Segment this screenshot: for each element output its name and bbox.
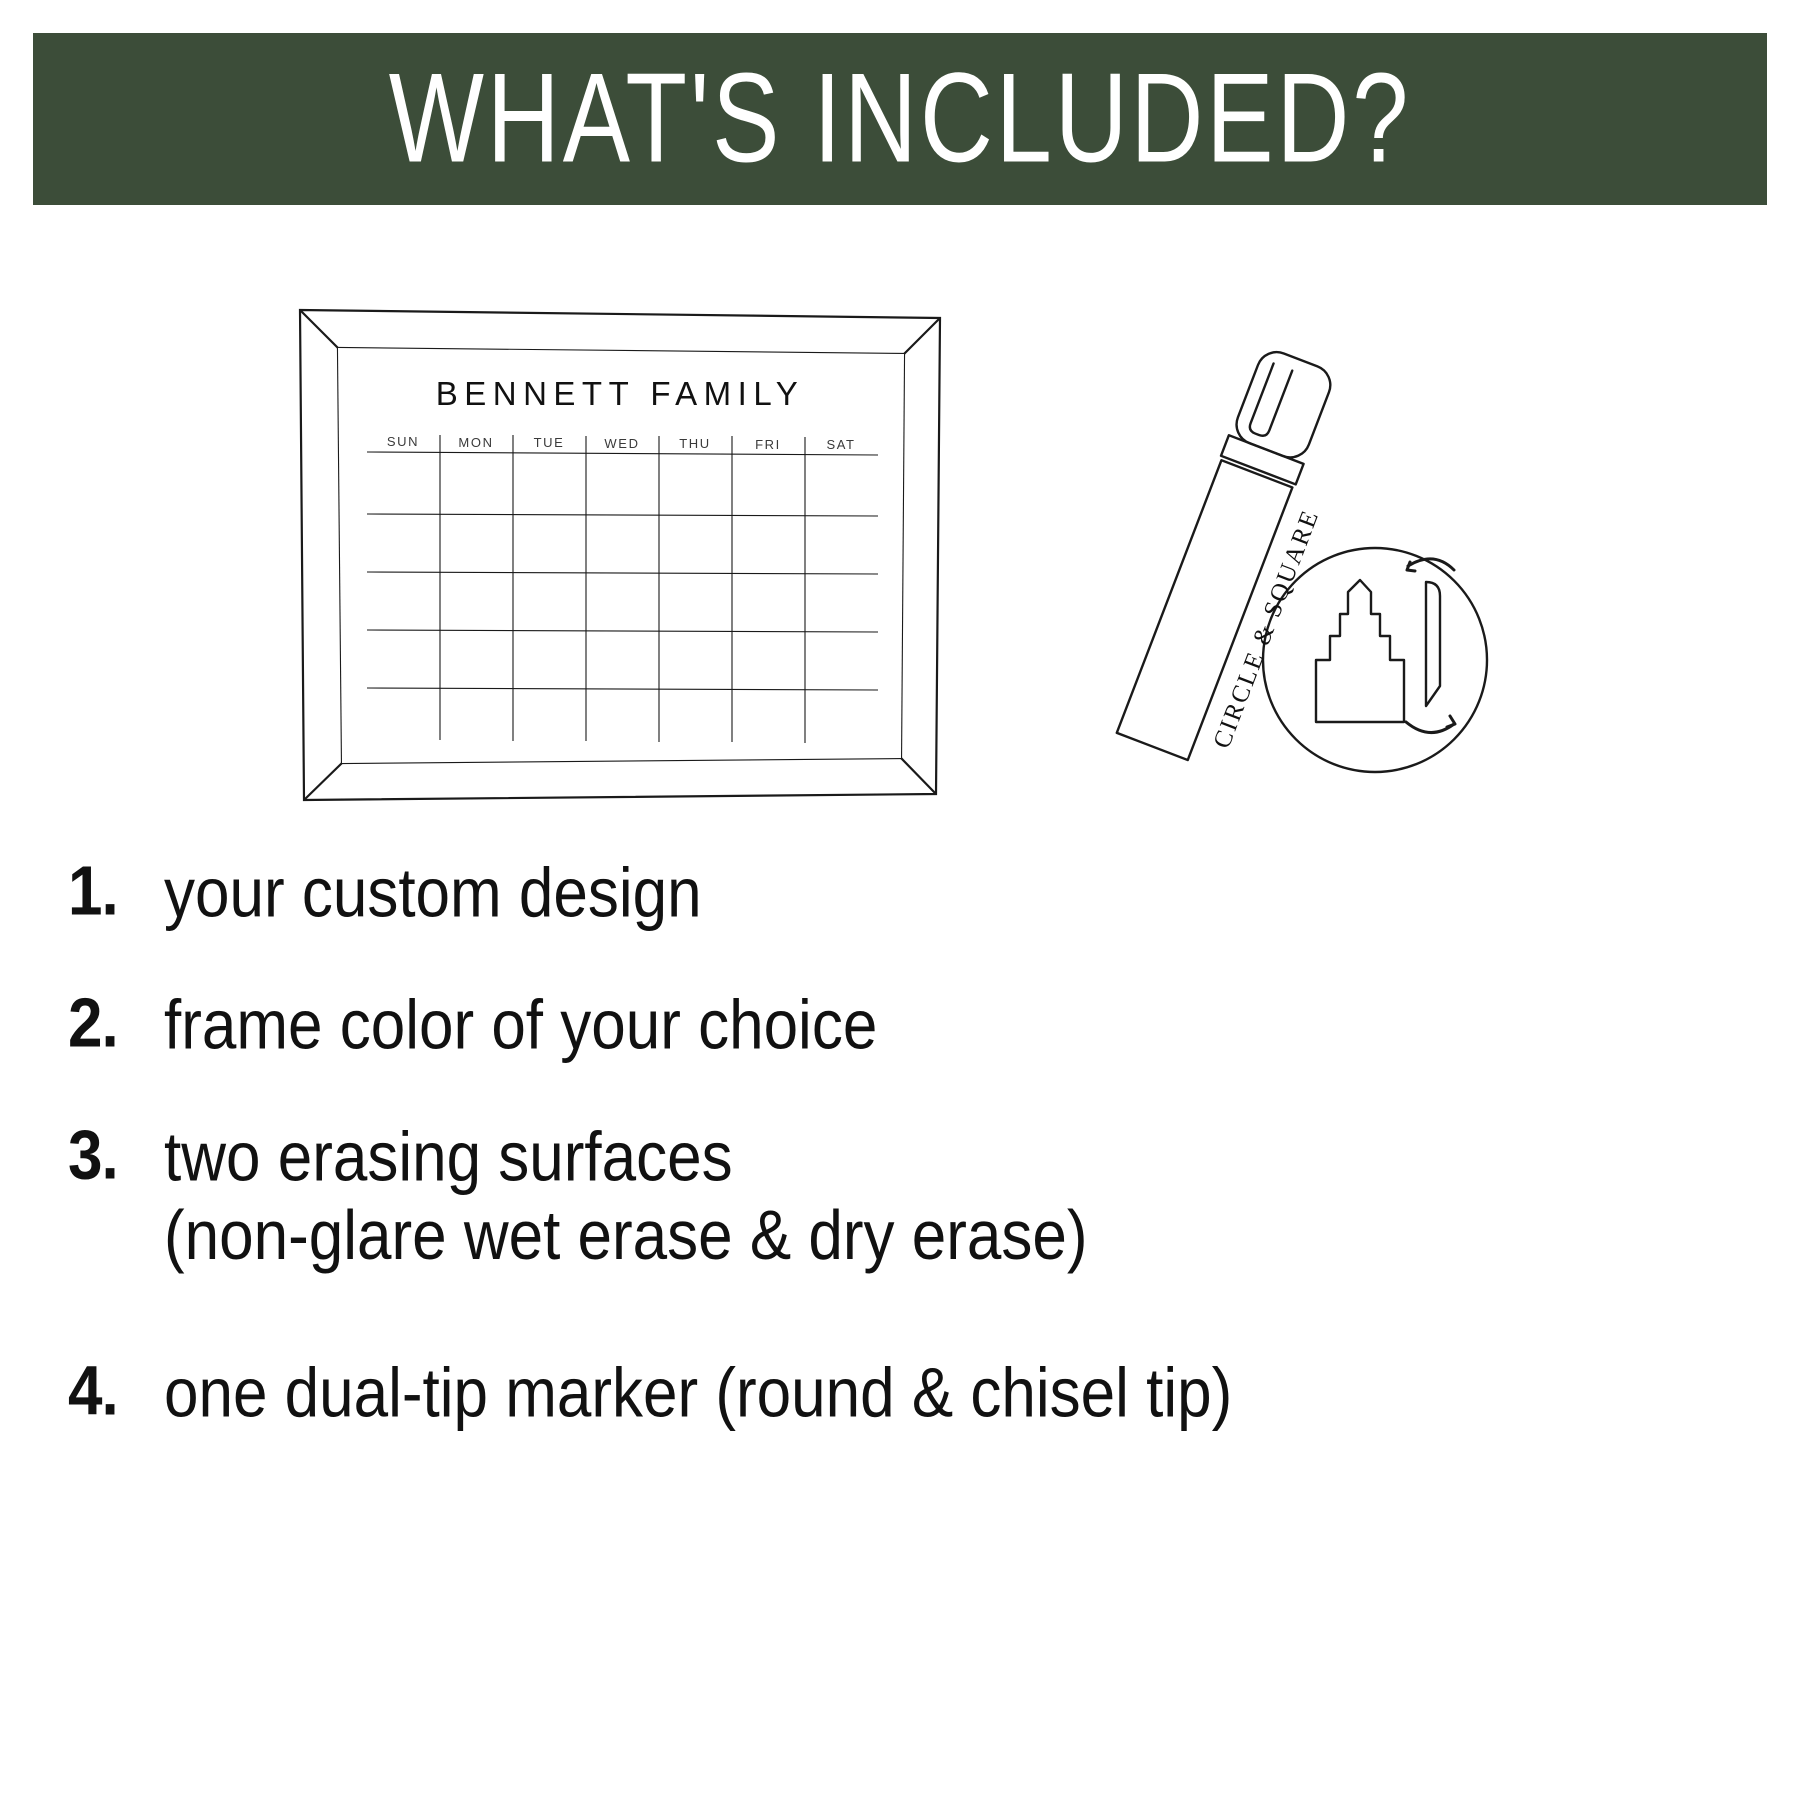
header-banner: WHAT'S INCLUDED? <box>33 33 1767 205</box>
list-item: 3. two erasing surfaces (non-glare wet e… <box>0 1119 1800 1259</box>
list-item-line-1: two erasing surfaces <box>164 1119 733 1196</box>
frame-mitre-top-right <box>904 318 940 354</box>
round-tip-icon <box>1316 580 1404 722</box>
list-item-number: 1. <box>68 855 164 928</box>
list-item-line-1: your custom design <box>164 855 702 932</box>
frame-mitre-bottom-left <box>304 763 342 800</box>
weekday-label-thu: THU <box>679 436 711 451</box>
board-title: BENNETT FAMILY <box>436 375 805 412</box>
marker-cap <box>1231 346 1336 463</box>
weekday-label-sun: SUN <box>387 434 419 449</box>
rotate-arrow-head-bottom <box>1447 716 1455 727</box>
list-item-text: two erasing surfaces (non-glare wet eras… <box>164 1119 1088 1276</box>
list-item-line-2: (non-glare wet erase & dry erase) <box>164 1198 1088 1276</box>
marker-illustration: CIRCLE & SQUARE <box>1030 330 1510 810</box>
list-item-line-1: one dual-tip marker (round & chisel tip) <box>164 1355 1232 1432</box>
marker-brand-text: CIRCLE & SQUARE <box>1208 505 1324 752</box>
weekday-label-mon: MON <box>458 435 493 450</box>
list-item-line-1: frame color of your choice <box>164 987 877 1064</box>
frame-mitre-top-left <box>300 310 338 348</box>
list-item-number: 3. <box>68 1119 164 1192</box>
illustration-area: BENNETT FAMILY SUN MON TUE WED THU FRI S… <box>0 250 1800 840</box>
chisel-tip-icon <box>1426 582 1440 706</box>
weekday-label-sat: SAT <box>826 437 855 452</box>
rotate-arrows-icon-top <box>1408 559 1454 570</box>
weekday-label-tue: TUE <box>534 435 565 450</box>
frame-mitre-bottom-right <box>901 758 936 794</box>
list-item-text: frame color of your choice <box>164 987 877 1065</box>
weekday-label-wed: WED <box>604 436 639 451</box>
list-item-text: your custom design <box>164 855 702 933</box>
list-item-number: 2. <box>68 987 164 1060</box>
list-item: 4. one dual-tip marker (round & chisel t… <box>0 1355 1800 1425</box>
list-item: 1. your custom design <box>0 855 1800 925</box>
framed-calendar-illustration: BENNETT FAMILY SUN MON TUE WED THU FRI S… <box>290 300 950 810</box>
list-item-number: 4. <box>68 1355 164 1428</box>
list-item: 2. frame color of your choice <box>0 987 1800 1057</box>
page-title: WHAT'S INCLUDED? <box>389 56 1411 183</box>
list-item-text: one dual-tip marker (round & chisel tip) <box>164 1355 1232 1433</box>
weekday-label-fri: FRI <box>755 437 781 452</box>
included-items-list: 1. your custom design 2. frame color of … <box>0 855 1800 1425</box>
